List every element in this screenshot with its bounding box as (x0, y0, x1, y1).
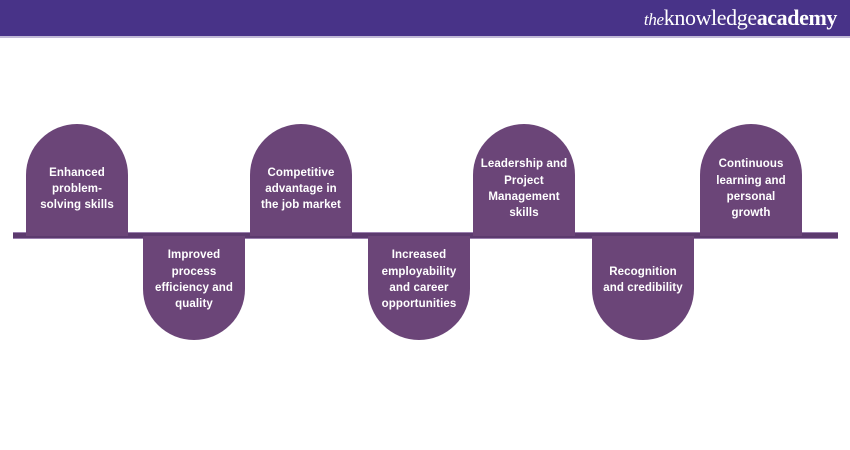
timeline-node-label: Recognition and credibility (599, 264, 687, 313)
timeline-node-1: Enhanced problem-solving skills (26, 124, 128, 236)
timeline-node-label: Leadership and Project Management skills (480, 138, 568, 221)
timeline-node-label: Increased employability and career oppor… (375, 247, 463, 328)
timeline-node-label: Continuous learning and personal growth (707, 138, 795, 221)
timeline-node-6: Recognition and credibility (592, 236, 694, 340)
timeline-node-7: Continuous learning and personal growth (700, 124, 802, 236)
timeline-node-2: Improved process efficiency and quality (143, 236, 245, 340)
timeline-node-label: Competitive advantage in the job market (257, 147, 345, 214)
timeline-node-label: Enhanced problem-solving skills (33, 147, 121, 214)
benefits-timeline-diagram: Enhanced problem-solving skills Improved… (0, 0, 850, 450)
timeline-node-4: Increased employability and career oppor… (368, 236, 470, 340)
timeline-node-3: Competitive advantage in the job market (250, 124, 352, 236)
timeline-node-5: Leadership and Project Management skills (473, 124, 575, 236)
timeline-node-label: Improved process efficiency and quality (150, 247, 238, 328)
